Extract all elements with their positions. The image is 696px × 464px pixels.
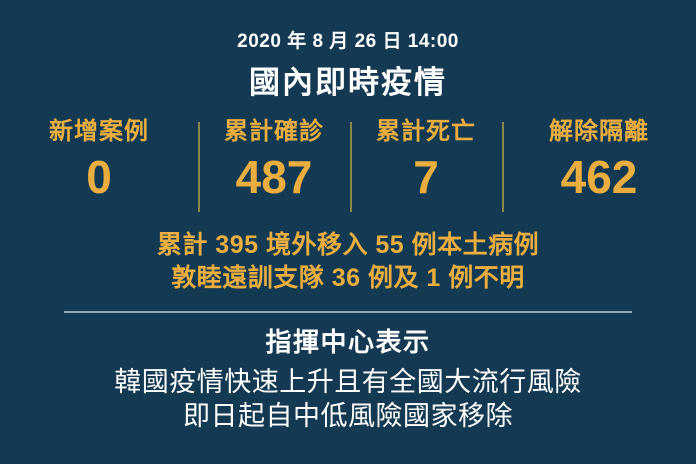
stat-label-released-isolation: 解除隔離 — [549, 119, 649, 145]
case-breakdown-line-2: 敦睦遠訓支隊 36 例及 1 例不明 — [0, 262, 696, 295]
stat-value-total-confirmed: 487 — [236, 154, 313, 200]
command-center-note-line-2: 即日起自中低風險國家移除 — [0, 399, 696, 434]
command-center-note-line-1: 韓國疫情快速上升且有全國大流行風險 — [0, 365, 696, 400]
stat-label-total-confirmed: 累計確診 — [224, 119, 324, 145]
stat-label-total-deaths: 累計死亡 — [376, 119, 476, 145]
stats-row: 新增案例 0 累計確診 487 累計死亡 7 解除隔離 462 — [0, 119, 696, 215]
stat-cell-total-deaths: 累計死亡 7 — [350, 119, 502, 215]
stat-cell-new-cases: 新增案例 0 — [0, 119, 198, 215]
section-divider — [64, 311, 632, 313]
case-breakdown: 累計 395 境外移入 55 例本土病例 敦睦遠訓支隊 36 例及 1 例不明 — [0, 229, 696, 295]
stat-value-released-isolation: 462 — [561, 154, 638, 200]
stat-label-new-cases: 新增案例 — [49, 119, 149, 145]
stat-cell-released-isolation: 解除隔離 462 — [502, 119, 696, 215]
case-breakdown-line-1: 累計 395 境外移入 55 例本土病例 — [0, 229, 696, 262]
report-timestamp: 2020 年 8 月 26 日 14:00 — [0, 32, 696, 53]
covid-daily-report-card: 2020 年 8 月 26 日 14:00 國內即時疫情 新增案例 0 累計確診… — [0, 0, 696, 464]
stat-value-new-cases: 0 — [86, 154, 112, 200]
command-center-note-title: 指揮中心表示 — [0, 327, 696, 358]
command-center-note: 指揮中心表示 韓國疫情快速上升且有全國大流行風險 即日起自中低風險國家移除 — [0, 327, 696, 434]
report-header: 2020 年 8 月 26 日 14:00 國內即時疫情 — [0, 0, 696, 101]
stat-cell-total-confirmed: 累計確診 487 — [198, 119, 350, 215]
stat-value-total-deaths: 7 — [413, 154, 439, 200]
page-title: 國內即時疫情 — [0, 65, 696, 101]
